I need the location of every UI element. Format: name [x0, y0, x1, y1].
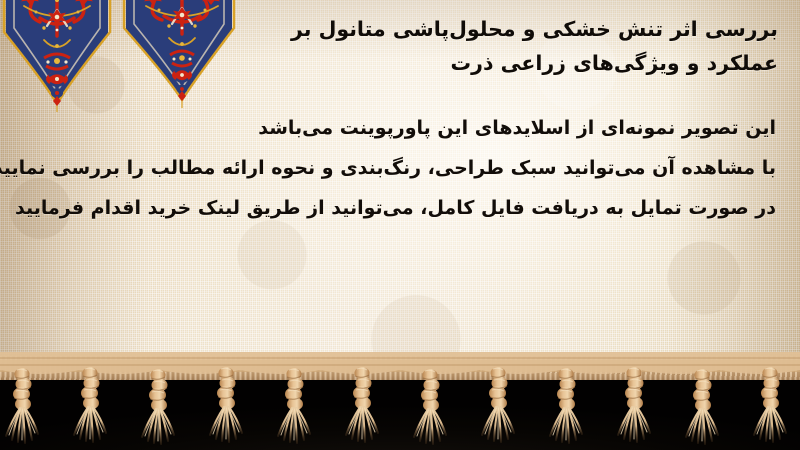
- slide-title: بررسی اثر تنش خشکی و محلول‌پاشی متانول ب…: [218, 12, 778, 80]
- slide-body: این تصویر نمونه‌ای از اسلایدهای این پاور…: [24, 108, 776, 228]
- selvedge-weave-texture: [0, 356, 800, 380]
- body-line-2: با مشاهده آن می‌توانید سبک طراحی، رنگ‌بن…: [24, 148, 776, 188]
- body-line-3: در صورت تمایل به دریافت فایل کامل، می‌تو…: [24, 188, 776, 228]
- body-line-1: این تصویر نمونه‌ای از اسلایدهای این پاور…: [24, 108, 776, 148]
- presentation-slide: بررسی اثر تنش خشکی و محلول‌پاشی متانول ب…: [0, 0, 800, 450]
- carpet-selvedge-edge: [0, 356, 800, 380]
- black-background-band: [0, 374, 800, 450]
- slide-text-layer: بررسی اثر تنش خشکی و محلول‌پاشی متانول ب…: [0, 0, 800, 386]
